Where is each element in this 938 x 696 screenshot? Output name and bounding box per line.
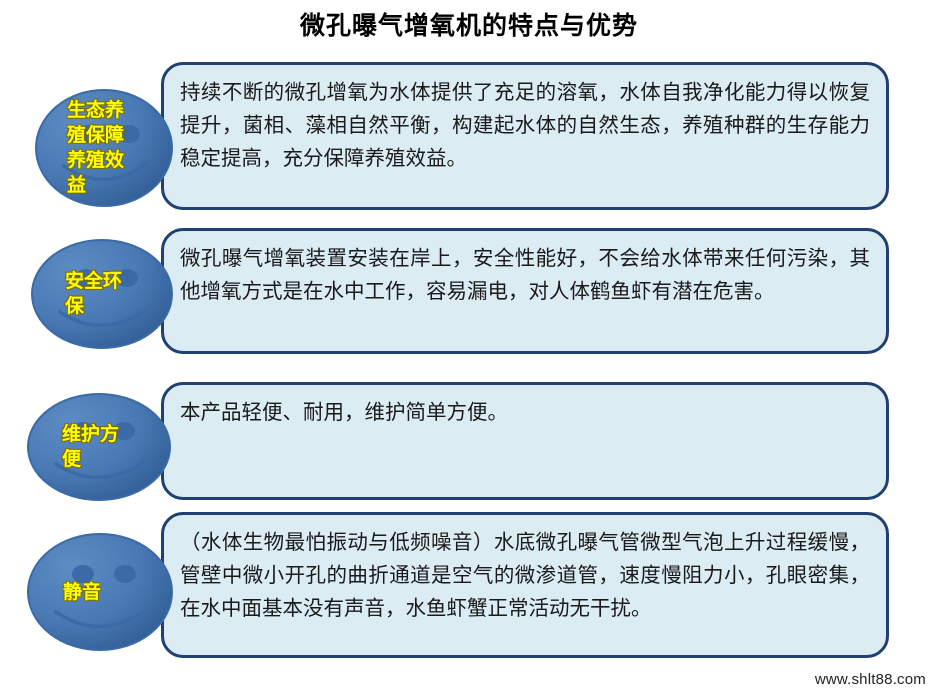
feature-description: 微孔曝气增氧装置安装在岸上，安全性能好，不会给水体带来任何污染，其他增氧方式是在… [180,243,870,309]
feature-smiley-badge[interactable]: 生态养殖保障养殖效益 [34,88,174,208]
smiley-face-icon [30,238,174,350]
feature-smiley-badge[interactable]: 维护方便 [26,392,172,502]
page-title: 微孔曝气增氧机的特点与优势 [0,12,938,42]
feature-text-box: 微孔曝气增氧装置安装在岸上，安全性能好，不会给水体带来任何污染，其他增氧方式是在… [161,228,889,354]
feature-description: 持续不断的微孔增氧为水体提供了充足的溶氧，水体自我净化能力得以恢复提升，菌相、藻… [180,77,870,176]
feature-description: 本产品轻便、耐用，维护简单方便。 [180,397,870,430]
site-watermark: www.shlt88.com [815,671,926,688]
smiley-face-icon [26,392,172,502]
feature-text-box: 本产品轻便、耐用，维护简单方便。 [161,382,889,500]
feature-row: 本产品轻便、耐用，维护简单方便。 维护方便 [0,382,938,502]
feature-text-box: （水体生物最怕振动与低频噪音）水底微孔曝气管微型气泡上升过程缓慢，管壁中微小开孔… [161,512,889,658]
feature-text-box: 持续不断的微孔增氧为水体提供了充足的溶氧，水体自我净化能力得以恢复提升，菌相、藻… [161,62,889,210]
smiley-face-icon [34,88,174,208]
feature-smiley-badge[interactable]: 安全环保 [30,238,174,350]
feature-description: （水体生物最怕振动与低频噪音）水底微孔曝气管微型气泡上升过程缓慢，管壁中微小开孔… [180,527,870,626]
feature-smiley-badge[interactable]: 静音 [26,532,174,652]
smiley-face-icon [26,532,174,652]
feature-row: （水体生物最怕振动与低频噪音）水底微孔曝气管微型气泡上升过程缓慢，管壁中微小开孔… [0,512,938,660]
feature-row: 持续不断的微孔增氧为水体提供了充足的溶氧，水体自我净化能力得以恢复提升，菌相、藻… [0,62,938,212]
feature-row: 微孔曝气增氧装置安装在岸上，安全性能好，不会给水体带来任何污染，其他增氧方式是在… [0,228,938,356]
